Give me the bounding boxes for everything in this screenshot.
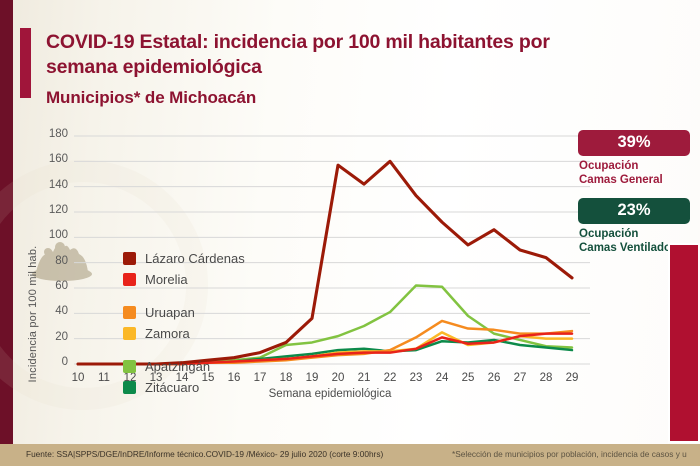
legend-swatch-icon (123, 252, 136, 265)
legend-swatch-icon (123, 306, 136, 319)
legend-group-gap (123, 344, 245, 356)
legend-item-morelia[interactable]: Morelia (123, 269, 245, 290)
kpi-caption-line2: Camas General (579, 174, 698, 188)
legend-swatch-icon (123, 327, 136, 340)
right-accent-panel (668, 243, 700, 443)
legend-item-label: Zamora (145, 326, 190, 341)
legend-item-uruapan[interactable]: Uruapan (123, 302, 245, 323)
slide-background: COVID-19 Estatal: incidencia por 100 mil… (0, 0, 700, 466)
kpi-caption-line1: Ocupación (579, 228, 698, 242)
title-accent-bar (20, 28, 31, 98)
legend-item-label: Lázaro Cárdenas (145, 251, 245, 266)
legend-item-label: Zitácuaro (145, 380, 199, 395)
legend-item-zit-cuaro[interactable]: Zitácuaro (123, 377, 245, 398)
legend-group-gap (123, 290, 245, 302)
chart-legend: Lázaro CárdenasMoreliaUruapanZamoraApatz… (123, 248, 245, 398)
page-subtitle: Municipios* de Michoacán (46, 88, 256, 108)
legend-swatch-icon (123, 273, 136, 286)
legend-item-label: Uruapan (145, 305, 195, 320)
legend-swatch-icon (123, 381, 136, 394)
kpi-caption: OcupaciónCamas General (579, 160, 698, 187)
kpi-value-badge: 39% (578, 130, 690, 156)
page-title: COVID-19 Estatal: incidencia por 100 mil… (46, 30, 626, 79)
footer-note-text: *Selección de municipios por población, … (452, 449, 687, 459)
kpi-value-badge: 23% (578, 198, 690, 224)
legend-item-zamora[interactable]: Zamora (123, 323, 245, 344)
kpi-caption-line1: Ocupación (579, 160, 698, 174)
legend-item-label: Apatzingán (145, 359, 210, 374)
legend-swatch-icon (123, 360, 136, 373)
legend-item-label: Morelia (145, 272, 188, 287)
footer-source-text: Fuente: SSA|SPPS/DGE/InDRE/Informe técni… (26, 449, 383, 459)
legend-item-apatzing-n[interactable]: Apatzingán (123, 356, 245, 377)
legend-item-l-zaro-c-rdenas[interactable]: Lázaro Cárdenas (123, 248, 245, 269)
footer-bar: Fuente: SSA|SPPS/DGE/InDRE/Informe técni… (0, 444, 700, 466)
